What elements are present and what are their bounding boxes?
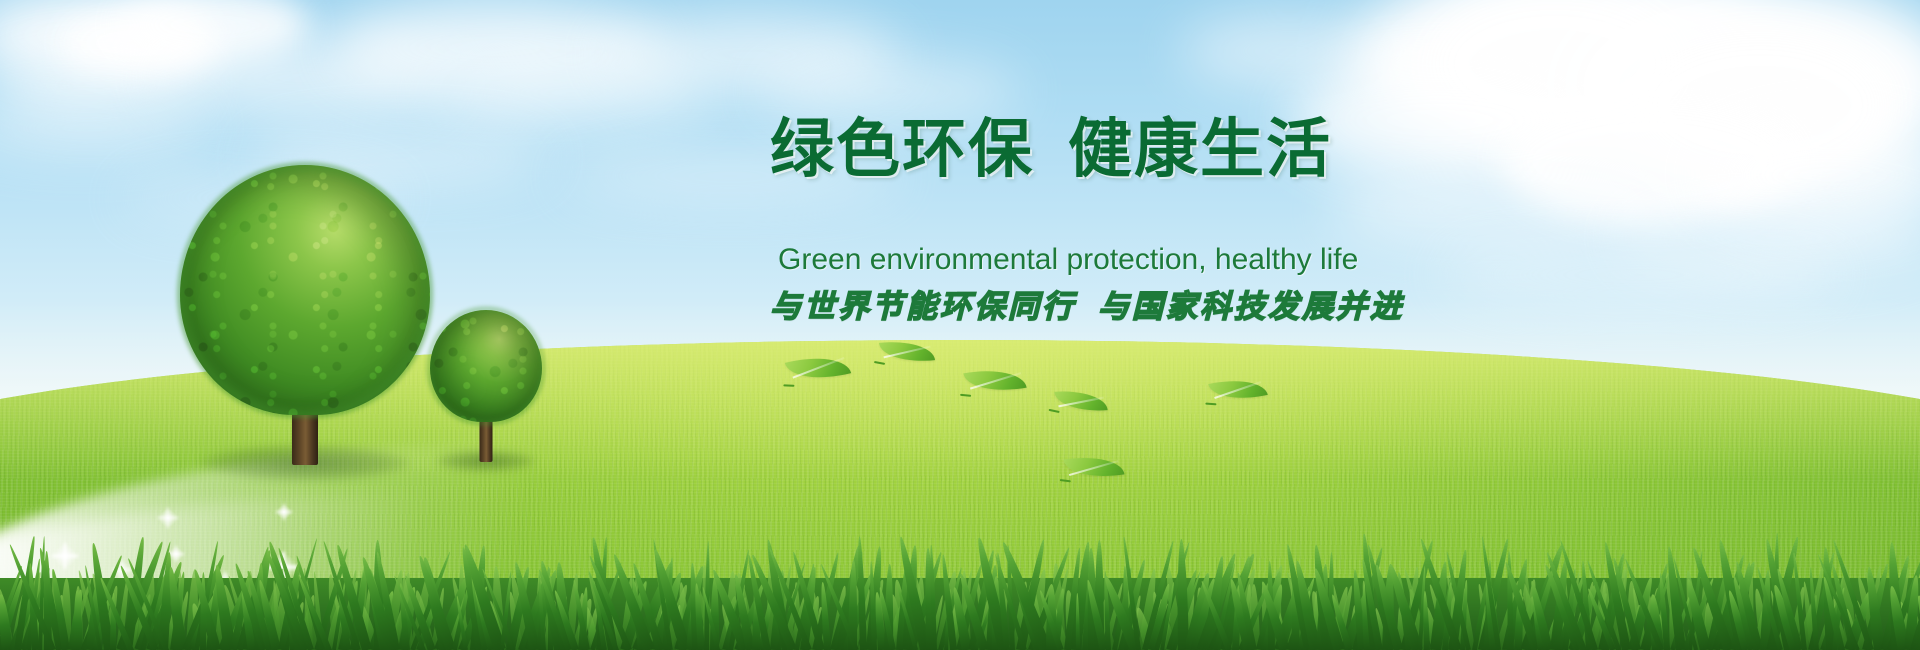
sparkle-8: [276, 504, 292, 520]
small-tree-canopy-texture: [430, 310, 542, 422]
eco-hero-banner: 绿色环保健康生活 Green environmental protection,…: [0, 0, 1920, 650]
leaf-vein: [1069, 460, 1118, 476]
small-tree-canopy: [430, 310, 542, 422]
leaf-vein: [884, 346, 931, 358]
big-tree-canopy: [180, 165, 430, 415]
leaf-stem: [783, 384, 794, 386]
leaf-vein: [1058, 396, 1103, 406]
big-tree: [180, 165, 430, 465]
leaf-vein: [1215, 381, 1262, 398]
leaf-vein: [970, 372, 1021, 389]
big-tree-canopy-texture: [180, 165, 430, 415]
foreground-grass-band: [0, 525, 1920, 650]
small-tree: [430, 310, 542, 462]
